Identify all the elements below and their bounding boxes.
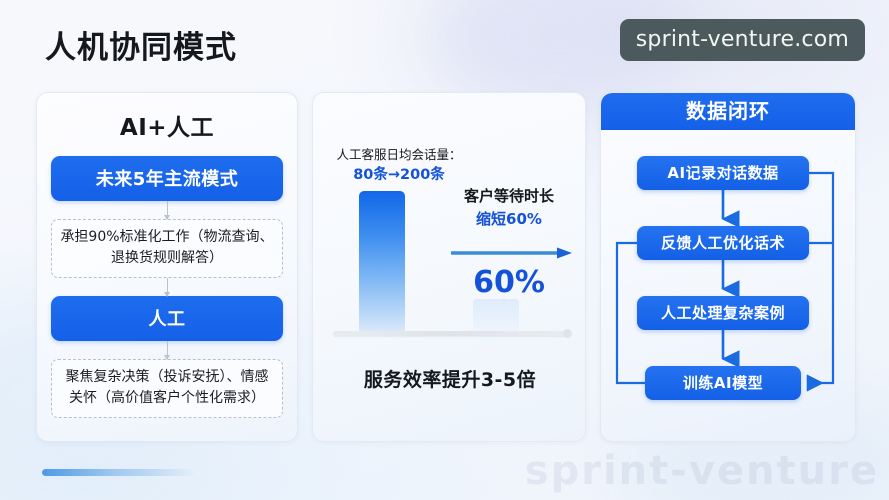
page-title: 人机协同模式 xyxy=(45,22,237,67)
wait-label-line2: 缩短60% xyxy=(439,208,579,231)
flow-node-human-handle[interactable]: 人工处理复杂案例 xyxy=(637,296,809,330)
chart-axis-endpoint xyxy=(563,329,572,338)
big-percent-value: 60% xyxy=(439,265,579,300)
chart-axis-line xyxy=(333,331,571,336)
flow-node-train-model[interactable]: 训练AI模型 xyxy=(645,366,801,400)
watermark-ghost-text: sprint-venture xyxy=(525,448,879,494)
accent-bar-decoration xyxy=(42,469,194,476)
cards-row: AI+人工 未来5年主流模式 承担90%标准化工作（物流查询、退换货规则解答） … xyxy=(36,92,856,442)
bar-primary xyxy=(359,191,405,333)
card-left-heading: AI+人工 xyxy=(51,108,283,142)
bar-secondary xyxy=(473,299,519,333)
left-note-human-scope: 聚焦复杂决策（投诉安抚）、情感关怀（高价值客户个性化需求） xyxy=(51,359,283,418)
right-arrow-icon xyxy=(451,247,573,259)
card-ai-human: AI+人工 未来5年主流模式 承担90%标准化工作（物流查询、退换货规则解答） … xyxy=(36,92,298,442)
flowchart: AI记录对话数据 反馈人工优化话术 人工处理复杂案例 训练AI模型 xyxy=(601,130,855,441)
wait-time-label: 客户等待时长 缩短60% xyxy=(439,185,579,230)
left-connector-2 xyxy=(167,278,168,296)
watermark-badge: sprint-venture.com xyxy=(620,19,865,61)
bar-caption-line2: 80条→200条 xyxy=(325,164,473,186)
bar-chart: 人工客服日均会话量： 80条→200条 客户等待时长 缩短60% 60% xyxy=(313,93,587,353)
left-connector-3 xyxy=(167,341,168,359)
bar-chart-caption: 人工客服日均会话量： 80条→200条 xyxy=(325,145,473,187)
bar-caption-line1: 人工客服日均会话量： xyxy=(325,145,473,164)
flow-node-feedback[interactable]: 反馈人工优化话术 xyxy=(637,226,809,260)
slide-canvas: 人机协同模式 sprint-venture.com sprint-venture… xyxy=(0,0,889,500)
card-metrics-chart: 人工客服日均会话量： 80条→200条 客户等待时长 缩短60% 60% 服务效 xyxy=(312,92,586,442)
card-right-header: 数据闭环 xyxy=(601,93,855,130)
left-pill-primary[interactable]: 未来5年主流模式 xyxy=(51,156,283,201)
wait-label-line1: 客户等待时长 xyxy=(439,185,579,208)
left-note-ai-scope: 承担90%标准化工作（物流查询、退换货规则解答） xyxy=(51,219,283,278)
left-connector-1 xyxy=(167,201,168,219)
flow-node-record[interactable]: AI记录对话数据 xyxy=(637,156,809,190)
efficiency-footnote: 服务效率提升3-5倍 xyxy=(313,365,587,392)
left-pill-human[interactable]: 人工 xyxy=(51,296,283,341)
card-data-loop: 数据闭环 xyxy=(600,92,856,442)
